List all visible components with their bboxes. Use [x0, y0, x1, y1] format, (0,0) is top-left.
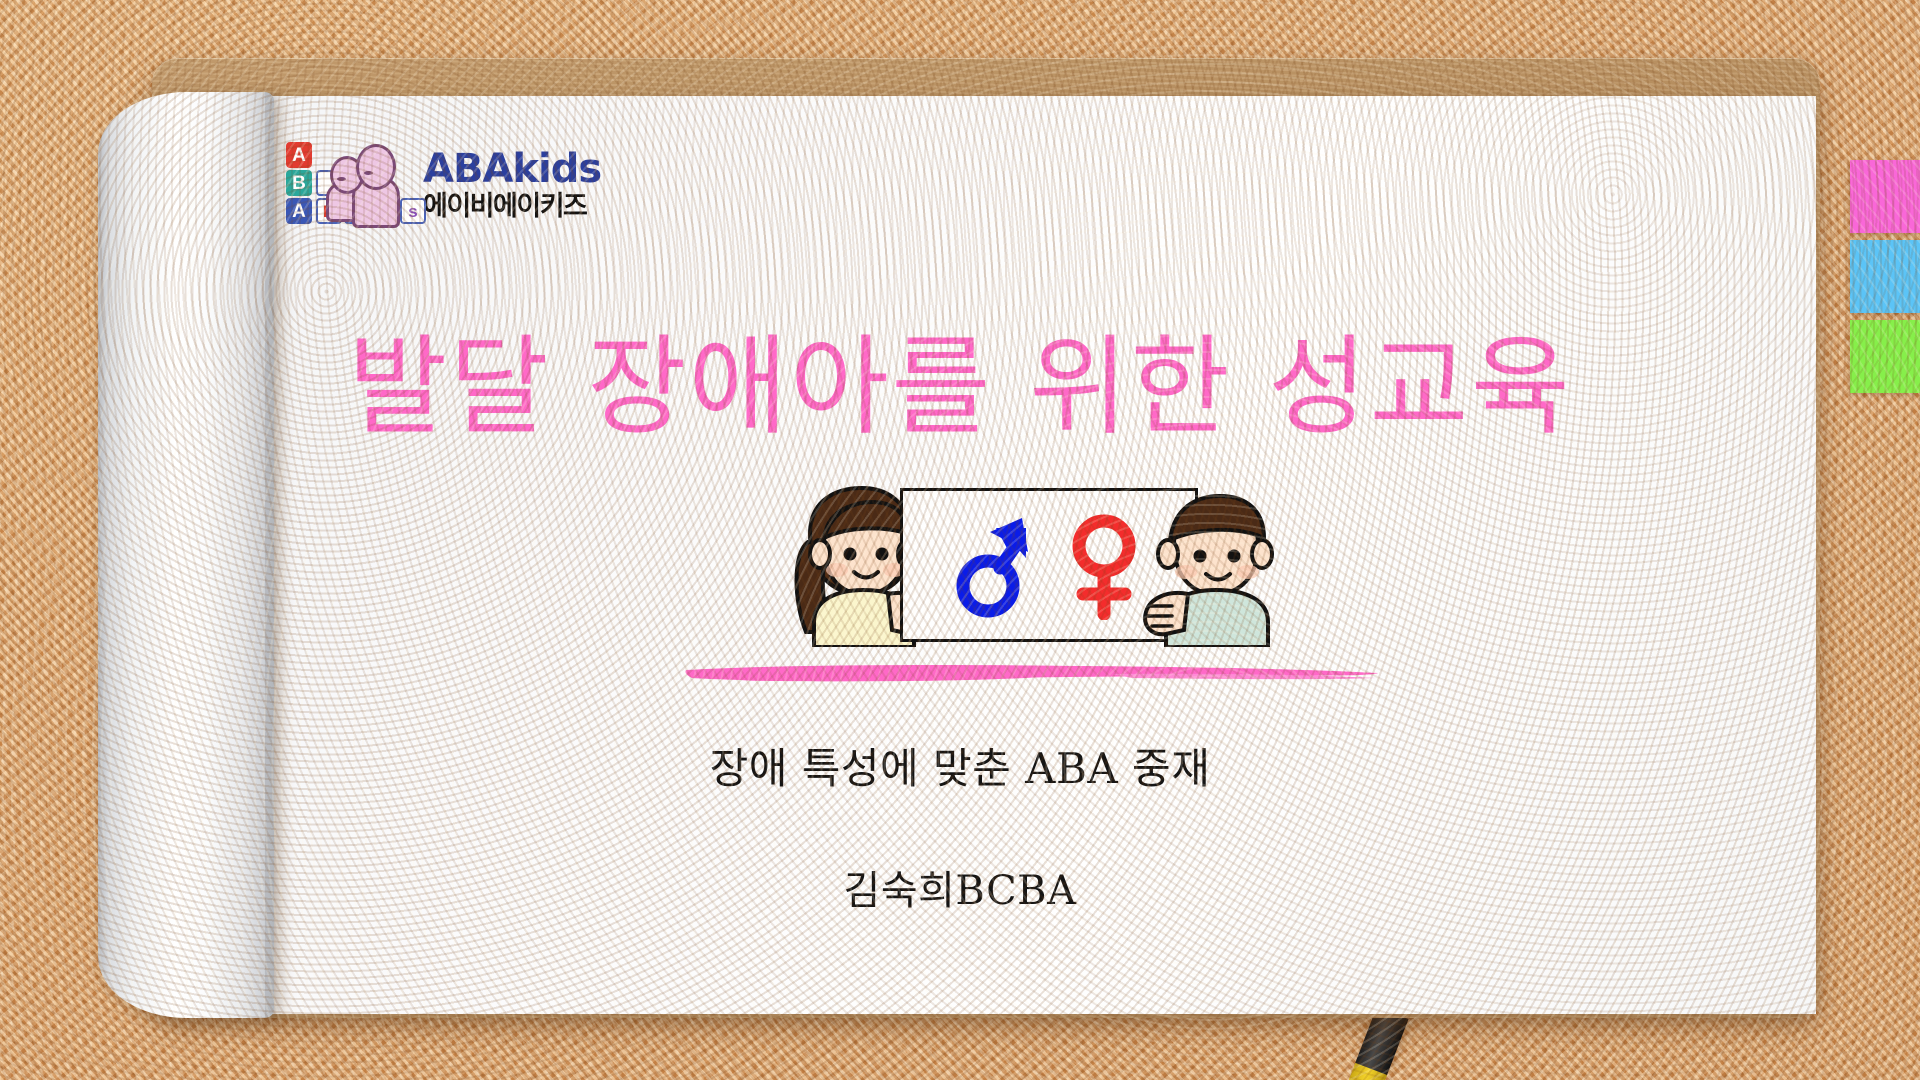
- logo-parent-figure-head: [356, 144, 396, 190]
- female-symbol-icon: [1066, 510, 1142, 620]
- male-symbol-icon: [956, 510, 1032, 620]
- cork-board-background: A B A K i d s ABAkids 에이비에이키즈 발달 장애아를 위한…: [0, 0, 1920, 1080]
- page-title: 발달 장애아를 위한 성교육: [0, 300, 1920, 456]
- logo-brand-ko: 에이비에이키즈: [423, 193, 601, 220]
- logo-block-b-teal: B: [286, 170, 312, 196]
- logo-block-a-red: A: [286, 142, 312, 168]
- logo-brand-en: ABAkids: [423, 149, 601, 189]
- pink-brush-underline: [682, 660, 1382, 686]
- gender-education-illustration: [780, 482, 1300, 647]
- logo-parent-eye: [364, 171, 373, 175]
- slide-author: 김숙희BCBA: [0, 858, 1920, 916]
- logo-block-s: s: [400, 198, 426, 224]
- logo-mark: A B A K i d s: [286, 142, 414, 226]
- boy-character-icon: [1140, 482, 1300, 647]
- sticky-note-pink[interactable]: [1850, 160, 1920, 233]
- slide-subtitle: 장애 특성에 맞춘 ABA 중재: [0, 735, 1920, 796]
- logo-block-a-blue: A: [286, 198, 312, 224]
- pencil-eraser: [1339, 1063, 1387, 1080]
- logo-wordmark: ABAkids 에이비에이키즈: [423, 149, 601, 220]
- logo-child-eye: [337, 177, 346, 181]
- abakids-logo[interactable]: A B A K i d s ABAkids 에이비에이키즈: [286, 142, 601, 226]
